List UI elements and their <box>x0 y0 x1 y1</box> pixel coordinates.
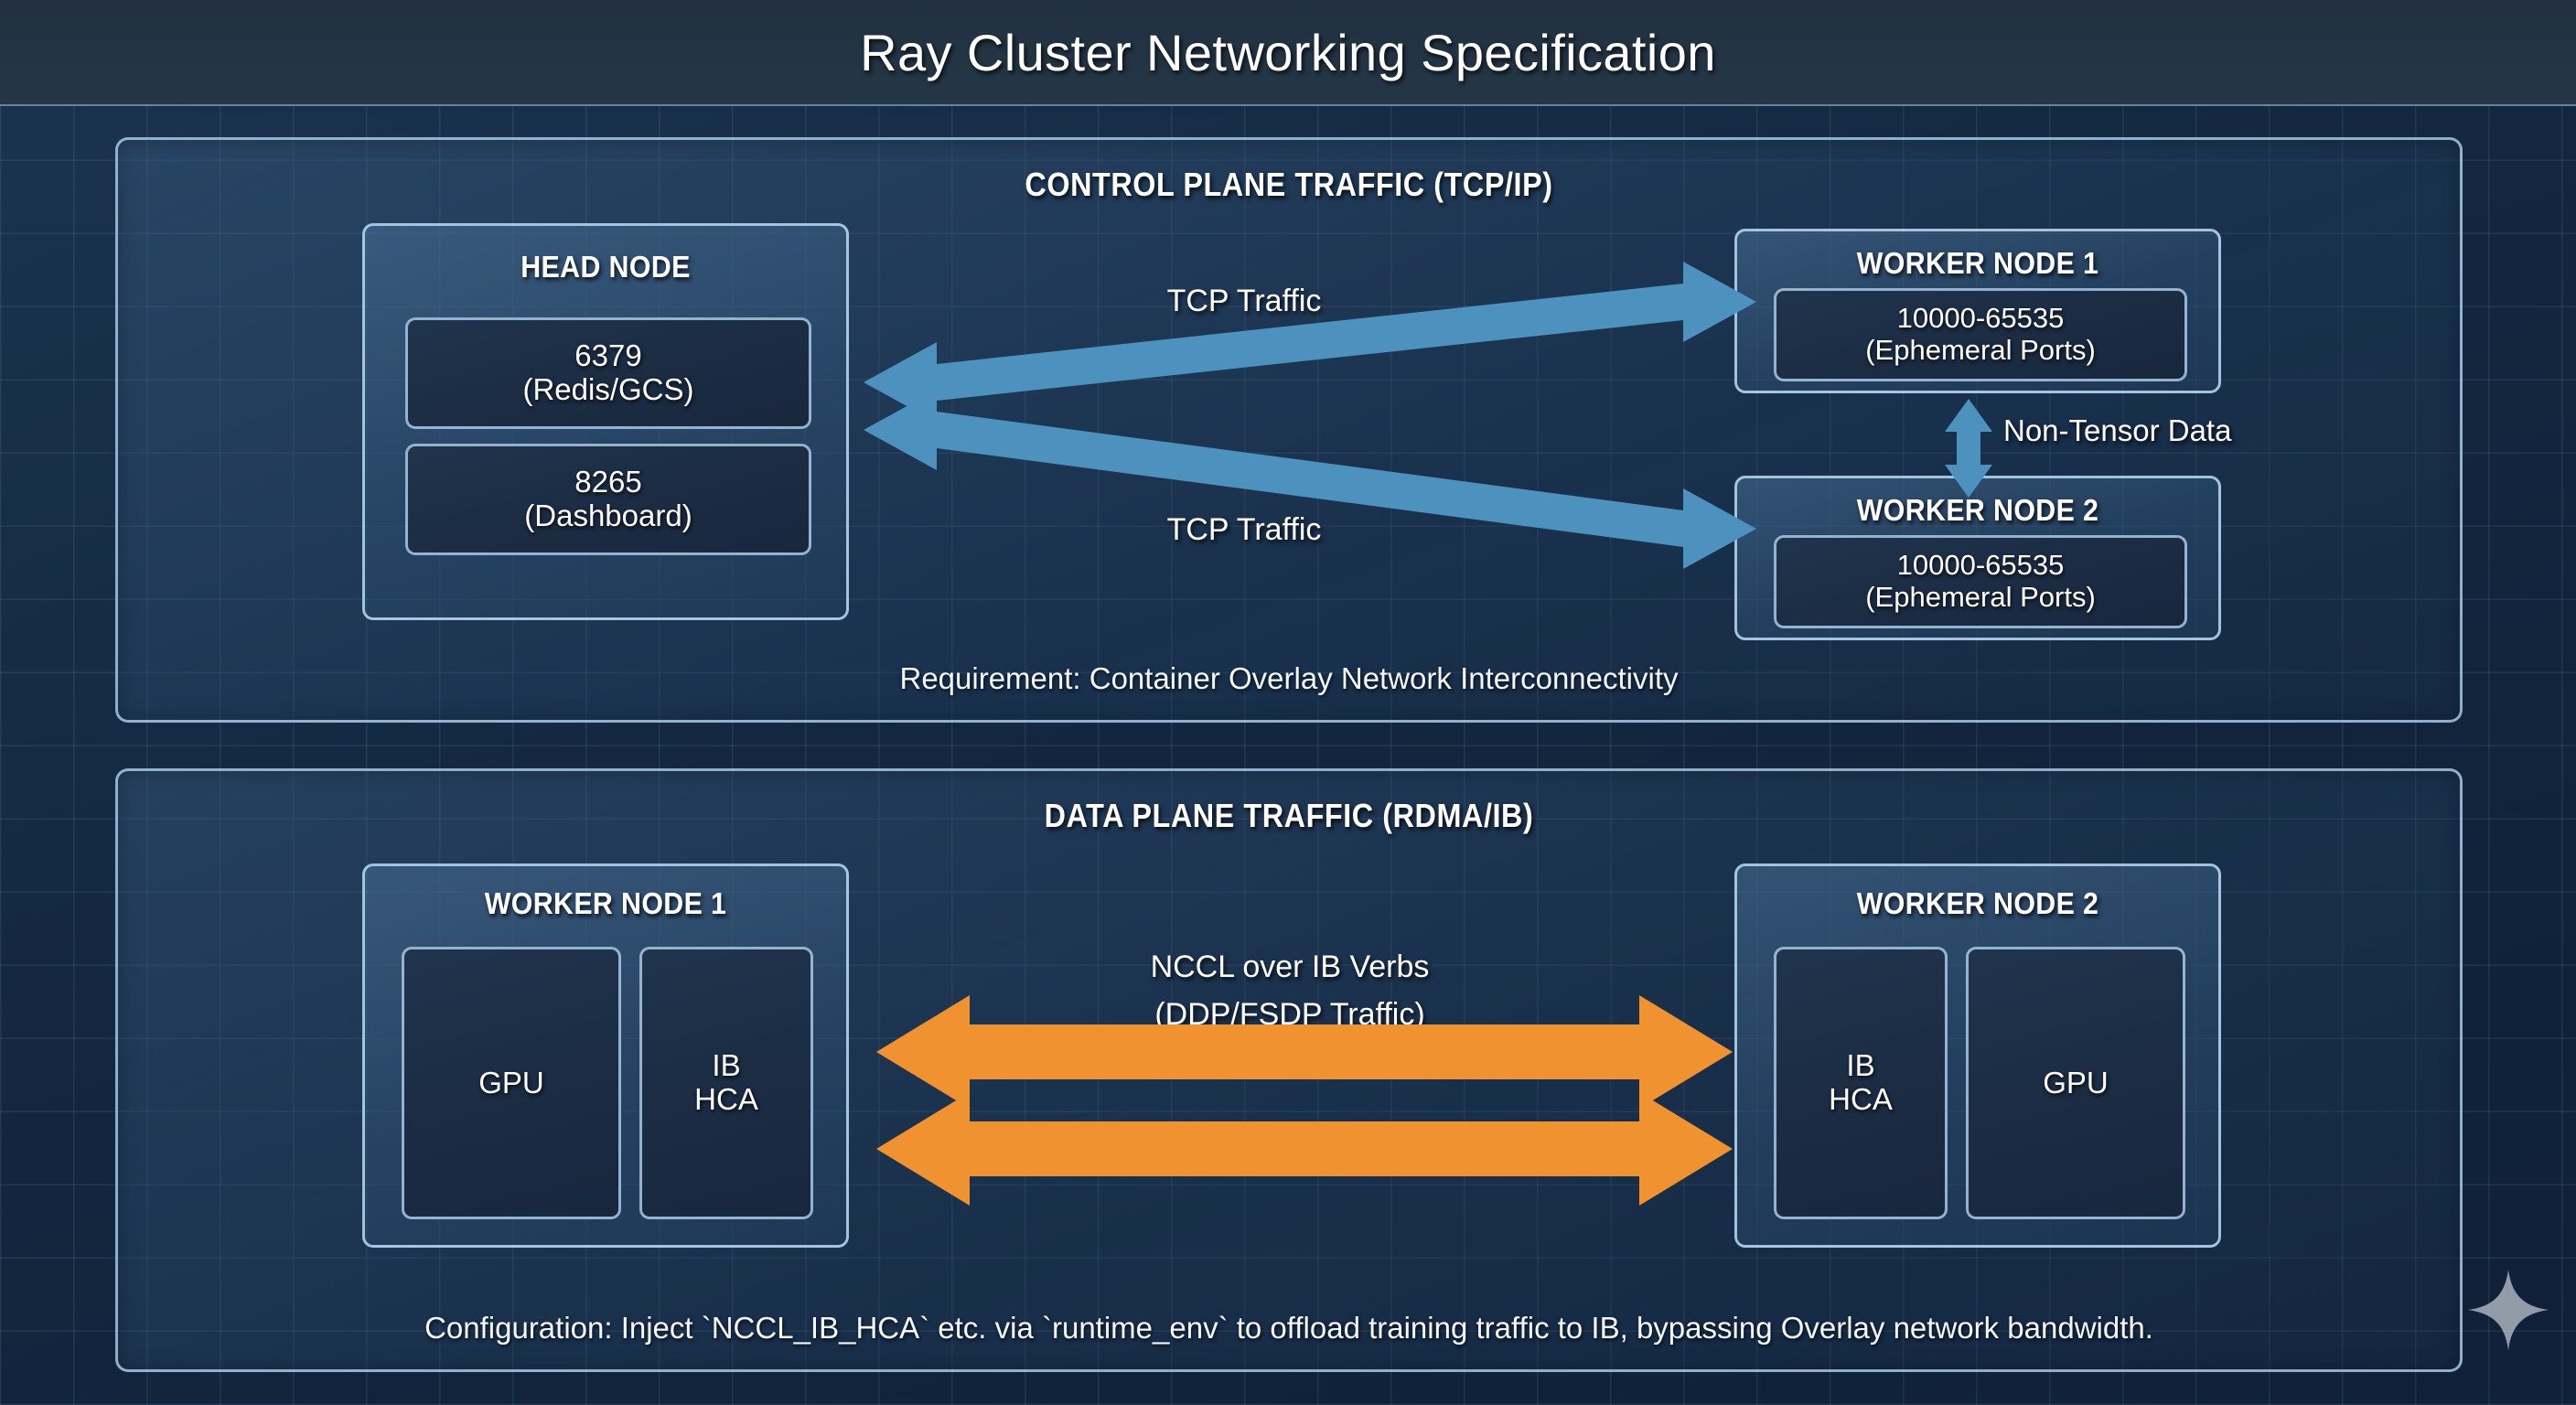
control-plane-heading: CONTROL PLANE TRAFFIC (TCP/IP) <box>235 166 2343 204</box>
control-plane-footnote: Requirement: Container Overlay Network I… <box>118 661 2460 696</box>
data-worker-node-2-ib-hca[interactable]: IB HCA <box>1774 947 1948 1219</box>
data-worker-node-1[interactable]: WORKER NODE 1 GPU IB HCA <box>362 863 849 1248</box>
head-node-title: HEAD NODE <box>384 250 827 284</box>
data-worker-node-1-gpu[interactable]: GPU <box>402 947 621 1219</box>
port-range: 10000-65535 <box>1897 303 2065 335</box>
title-bar: Ray Cluster Networking Specification <box>0 0 2576 106</box>
device-label-line1: GPU <box>2043 1067 2109 1100</box>
data-plane-footnote: Configuration: Inject `NCCL_IB_HCA` etc.… <box>118 1311 2460 1346</box>
control-worker-node-1-ports[interactable]: 10000-65535 (Ephemeral Ports) <box>1774 288 2187 381</box>
sparkle-icon <box>2466 1268 2550 1352</box>
control-worker-node-1-title: WORKER NODE 1 <box>1756 246 2199 281</box>
device-label-line2: HCA <box>694 1083 758 1117</box>
port-service: (Ephemeral Ports) <box>1865 335 2096 367</box>
port-number: 8265 <box>574 466 641 499</box>
port-service: (Ephemeral Ports) <box>1865 582 2096 614</box>
control-worker-node-2-ports[interactable]: 10000-65535 (Ephemeral Ports) <box>1774 535 2187 628</box>
data-worker-node-1-ib-hca[interactable]: IB HCA <box>639 947 813 1219</box>
diagram-canvas: Ray Cluster Networking Specification CON… <box>0 0 2576 1405</box>
port-service: (Dashboard) <box>524 499 692 533</box>
port-range: 10000-65535 <box>1897 550 2065 582</box>
head-node-port-redis[interactable]: 6379 (Redis/GCS) <box>405 317 811 429</box>
control-worker-node-2[interactable]: WORKER NODE 2 10000-65535 (Ephemeral Por… <box>1734 476 2221 640</box>
tcp-traffic-label-top: TCP Traffic <box>1079 284 1409 319</box>
port-service: (Redis/GCS) <box>522 373 693 407</box>
control-worker-node-2-title: WORKER NODE 2 <box>1756 493 2199 528</box>
page-title: Ray Cluster Networking Specification <box>860 23 1716 82</box>
data-worker-node-2-gpu[interactable]: GPU <box>1966 947 2185 1219</box>
tcp-traffic-label-bottom: TCP Traffic <box>1079 512 1409 548</box>
device-label-line1: GPU <box>478 1067 544 1100</box>
data-plane-heading: DATA PLANE TRAFFIC (RDMA/IB) <box>235 797 2343 835</box>
head-node[interactable]: HEAD NODE 6379 (Redis/GCS) 8265 (Dashboa… <box>362 223 849 620</box>
device-label-line1: IB <box>1846 1049 1874 1083</box>
data-worker-node-1-title: WORKER NODE 1 <box>384 886 827 921</box>
control-worker-node-1[interactable]: WORKER NODE 1 10000-65535 (Ephemeral Por… <box>1734 229 2221 393</box>
head-node-port-dashboard[interactable]: 8265 (Dashboard) <box>405 444 811 555</box>
data-worker-node-2-title: WORKER NODE 2 <box>1756 886 2199 921</box>
non-tensor-data-label: Non-Tensor Data <box>2003 413 2388 448</box>
device-label-line1: IB <box>712 1049 740 1083</box>
nccl-flow-label-line2: (DDP/FSDP Traffic) <box>997 997 1583 1033</box>
nccl-flow-label-line1: NCCL over IB Verbs <box>997 949 1583 985</box>
device-label-line2: HCA <box>1829 1083 1893 1117</box>
port-number: 6379 <box>574 339 641 373</box>
data-worker-node-2[interactable]: WORKER NODE 2 IB HCA GPU <box>1734 863 2221 1248</box>
